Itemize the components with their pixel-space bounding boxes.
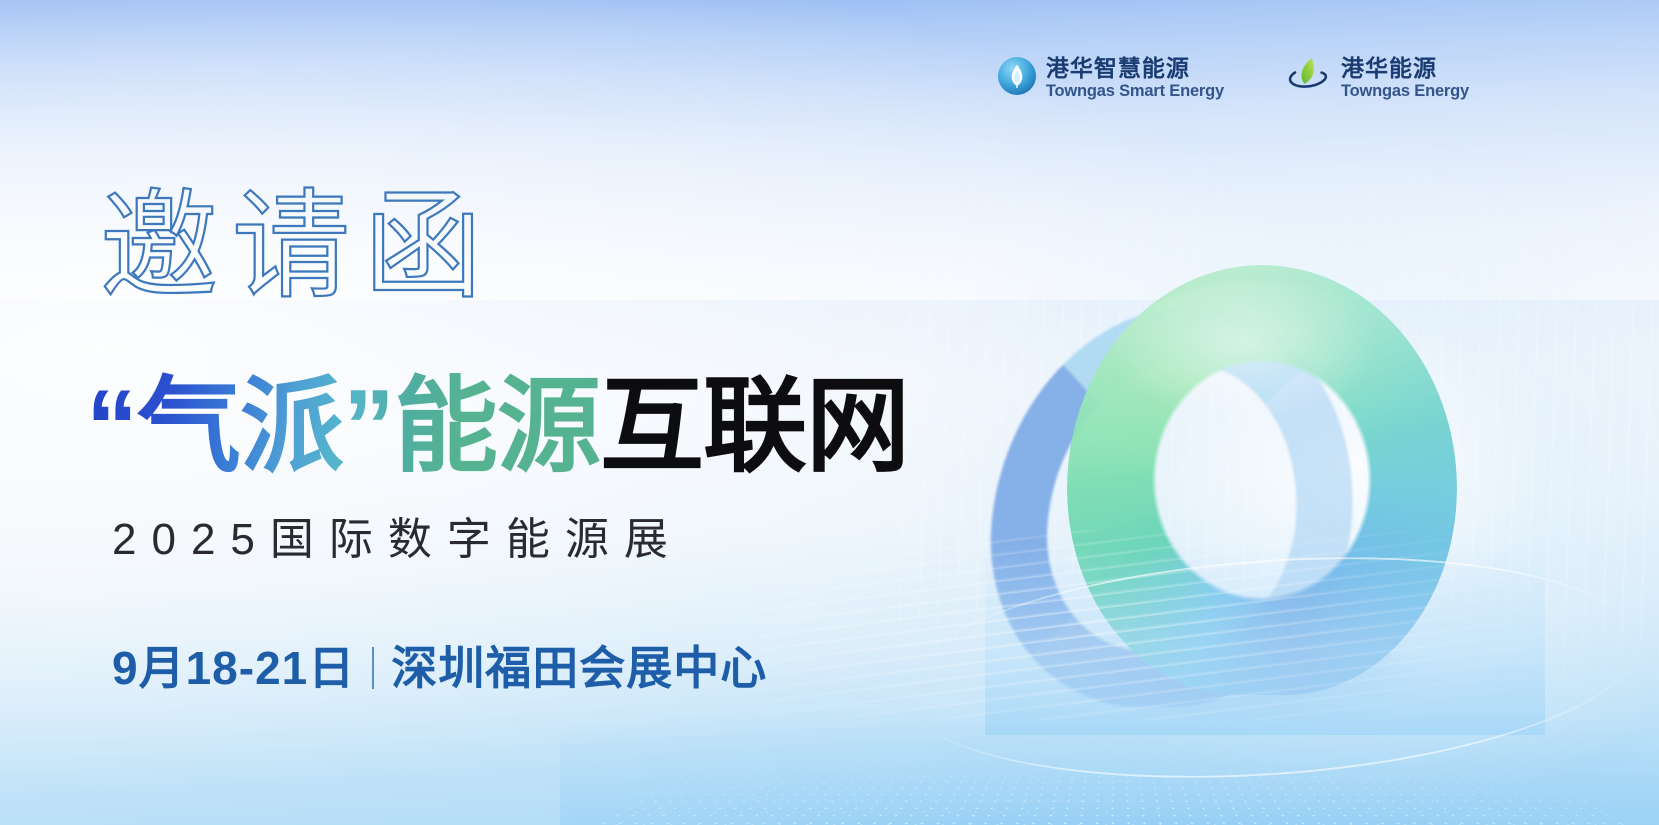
logo-smart-energy-cn: 港华智慧能源 — [1046, 57, 1224, 80]
event-date: 9月18-21日 — [112, 645, 355, 691]
logo-towngas-energy[interactable]: 港华能源 Towngas Energy — [1286, 55, 1469, 102]
headline-gradient-part: “气派”能源 — [86, 369, 600, 485]
ring-highlight — [1095, 279, 1425, 509]
headline: “气派”能源互联网 — [86, 375, 909, 479]
headline-black-part: 互联网 — [600, 369, 909, 485]
leaf-orbit-icon — [1286, 55, 1332, 102]
logo-energy-en: Towngas Energy — [1341, 83, 1469, 100]
flame-circle-icon — [997, 56, 1037, 101]
logo-energy-text: 港华能源 Towngas Energy — [1341, 57, 1469, 100]
meta-divider — [372, 647, 374, 689]
event-meta: 9月18-21日 深圳福田会展中心 — [112, 645, 767, 691]
logo-smart-energy-text: 港华智慧能源 Towngas Smart Energy — [1046, 57, 1224, 100]
subtitle-expo-name: 2025国际数字能源展 — [112, 518, 683, 562]
event-venue: 深圳福田会展中心 — [391, 645, 767, 691]
invitation-poster: 港华智慧能源 Towngas Smart Energy — [0, 0, 1659, 825]
logo-bar: 港华智慧能源 Towngas Smart Energy — [997, 55, 1469, 102]
kicker-invitation: 邀请函 — [100, 188, 496, 306]
logo-energy-cn: 港华能源 — [1341, 57, 1469, 80]
logo-smart-energy-en: Towngas Smart Energy — [1046, 83, 1224, 100]
logo-towngas-smart-energy[interactable]: 港华智慧能源 Towngas Smart Energy — [997, 56, 1224, 101]
